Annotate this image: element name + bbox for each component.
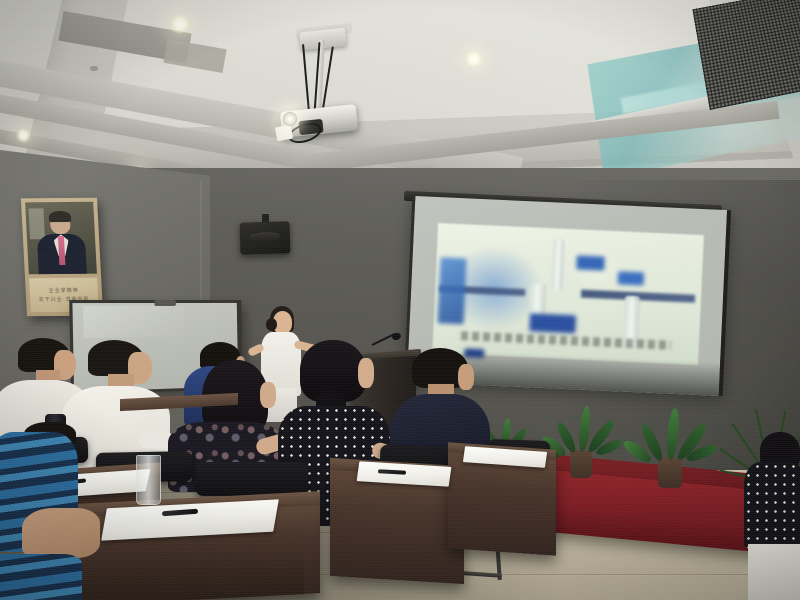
desk-right [448, 452, 556, 556]
attendee-face-edge [260, 382, 276, 408]
conference-room-photo: 企业家精神 实干兴业·求索创新 [0, 0, 800, 600]
presenter-bun [266, 318, 277, 331]
attendee-polka-dot-right [744, 432, 800, 600]
downlight-2 [465, 50, 483, 68]
portrait-photo [25, 202, 97, 274]
projector-power-plug [275, 125, 293, 142]
downlight-1 [170, 14, 190, 34]
attendee-skirt [748, 544, 800, 600]
plaque-line-1: 企业家精神 [49, 287, 79, 294]
whiteboard-clip [154, 300, 176, 306]
wall-speaker [240, 221, 291, 254]
portrait-hair [48, 211, 71, 223]
attendee-arm [22, 508, 100, 558]
attendee-striped-shirt-foreground [0, 424, 96, 600]
attendee-sleeve [0, 554, 82, 600]
recessed-vent-3 [90, 66, 98, 71]
desk-center [330, 470, 464, 584]
potted-plant-3 [636, 396, 702, 488]
projector-lens-icon [283, 112, 297, 126]
hvac-grille-icon [692, 0, 800, 110]
potted-plant-2 [552, 392, 610, 478]
attendee-face-edge [458, 364, 474, 390]
portrait-background-window [28, 208, 45, 240]
plant-pot-2 [570, 450, 592, 478]
water-glass [136, 455, 161, 505]
attendee-face-edge [358, 358, 374, 388]
whiteboard-sheen [83, 306, 184, 338]
plant-pot-3 [658, 458, 682, 488]
attendee-top [744, 462, 800, 548]
chair-back-center [196, 462, 308, 496]
downlight-3 [16, 128, 31, 143]
framed-portrait: 企业家精神 实干兴业·求索创新 [21, 198, 103, 317]
speaker-cone-icon [250, 232, 280, 241]
